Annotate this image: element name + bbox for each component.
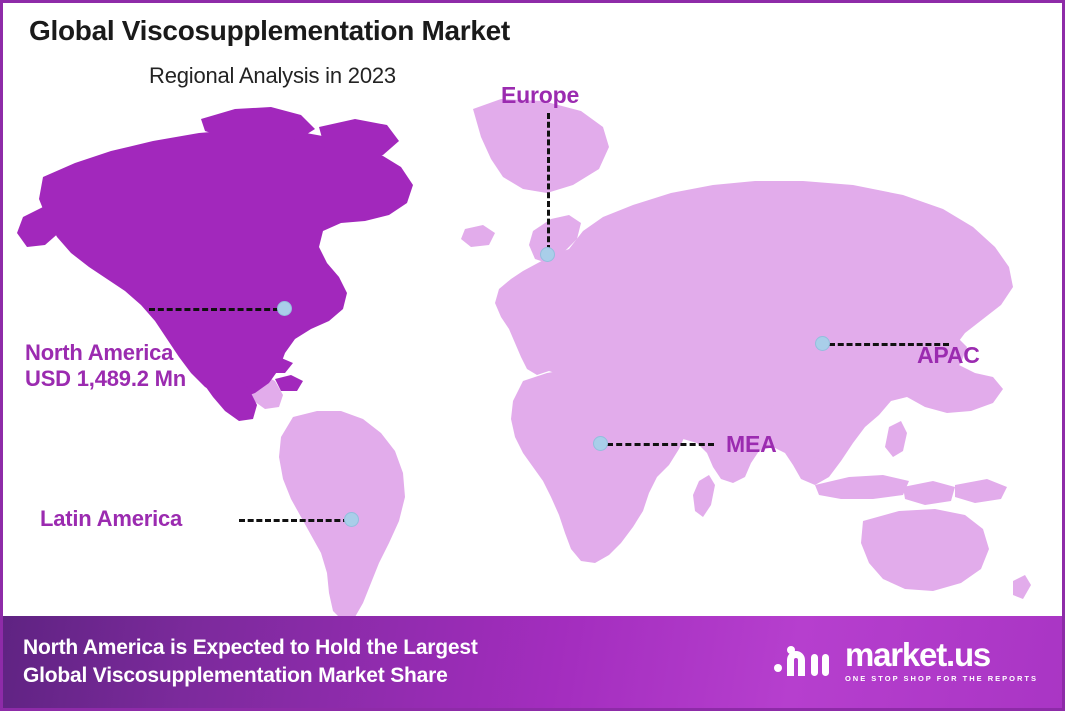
region-value-north-america: USD 1,489.2 Mn: [25, 366, 186, 392]
map-marker-apac[interactable]: [815, 336, 830, 351]
region-iceland: [461, 225, 495, 247]
region-name-apac: APAC: [917, 342, 980, 369]
region-australia: [861, 509, 989, 591]
map-marker-latin-america[interactable]: [344, 512, 359, 527]
page-title: Global Viscosupplementation Market: [29, 15, 510, 47]
region-indonesia-1: [815, 475, 909, 499]
region-indonesia-2: [903, 481, 955, 505]
region-name-europe: Europe: [501, 82, 579, 109]
region-alaska: [17, 205, 65, 247]
region-newzealand: [1013, 575, 1031, 599]
map-marker-europe[interactable]: [540, 247, 555, 262]
region-label-latin-america[interactable]: Latin America: [40, 506, 182, 532]
logo-tagline: ONE STOP SHOP FOR THE REPORTS: [845, 675, 1038, 683]
region-label-north-america[interactable]: North America USD 1,489.2 Mn: [25, 340, 186, 392]
footer-banner: North America is Expected to Hold the La…: [3, 616, 1065, 708]
footer-headline-line1: North America is Expected to Hold the La…: [23, 634, 478, 662]
map-marker-mea[interactable]: [593, 436, 608, 451]
logo-wordmark: market.us: [845, 638, 1038, 671]
region-label-mea[interactable]: MEA: [726, 431, 777, 458]
region-south-america: [279, 411, 405, 621]
region-greenland: [473, 99, 609, 193]
region-label-apac[interactable]: APAC: [917, 342, 980, 369]
region-philippines: [885, 421, 907, 457]
logo-text-block: market.us ONE STOP SHOP FOR THE REPORTS: [845, 638, 1038, 683]
region-name-north-america: North America: [25, 340, 186, 366]
region-name-latin-america: Latin America: [40, 506, 182, 532]
region-newguinea: [955, 479, 1007, 503]
footer-headline: North America is Expected to Hold the La…: [23, 634, 478, 690]
brand-logo[interactable]: market.us ONE STOP SHOP FOR THE REPORTS: [773, 638, 1038, 683]
infographic-canvas: Global Viscosupplementation Market Regio…: [0, 0, 1065, 711]
market-us-logo-icon: [773, 640, 835, 680]
footer-headline-line2: Global Viscosupplementation Market Share: [23, 662, 478, 690]
map-marker-north-america[interactable]: [277, 301, 292, 316]
region-label-europe[interactable]: Europe: [501, 82, 579, 109]
region-madagascar: [693, 475, 715, 517]
region-africa: [511, 369, 689, 563]
region-name-mea: MEA: [726, 431, 777, 458]
